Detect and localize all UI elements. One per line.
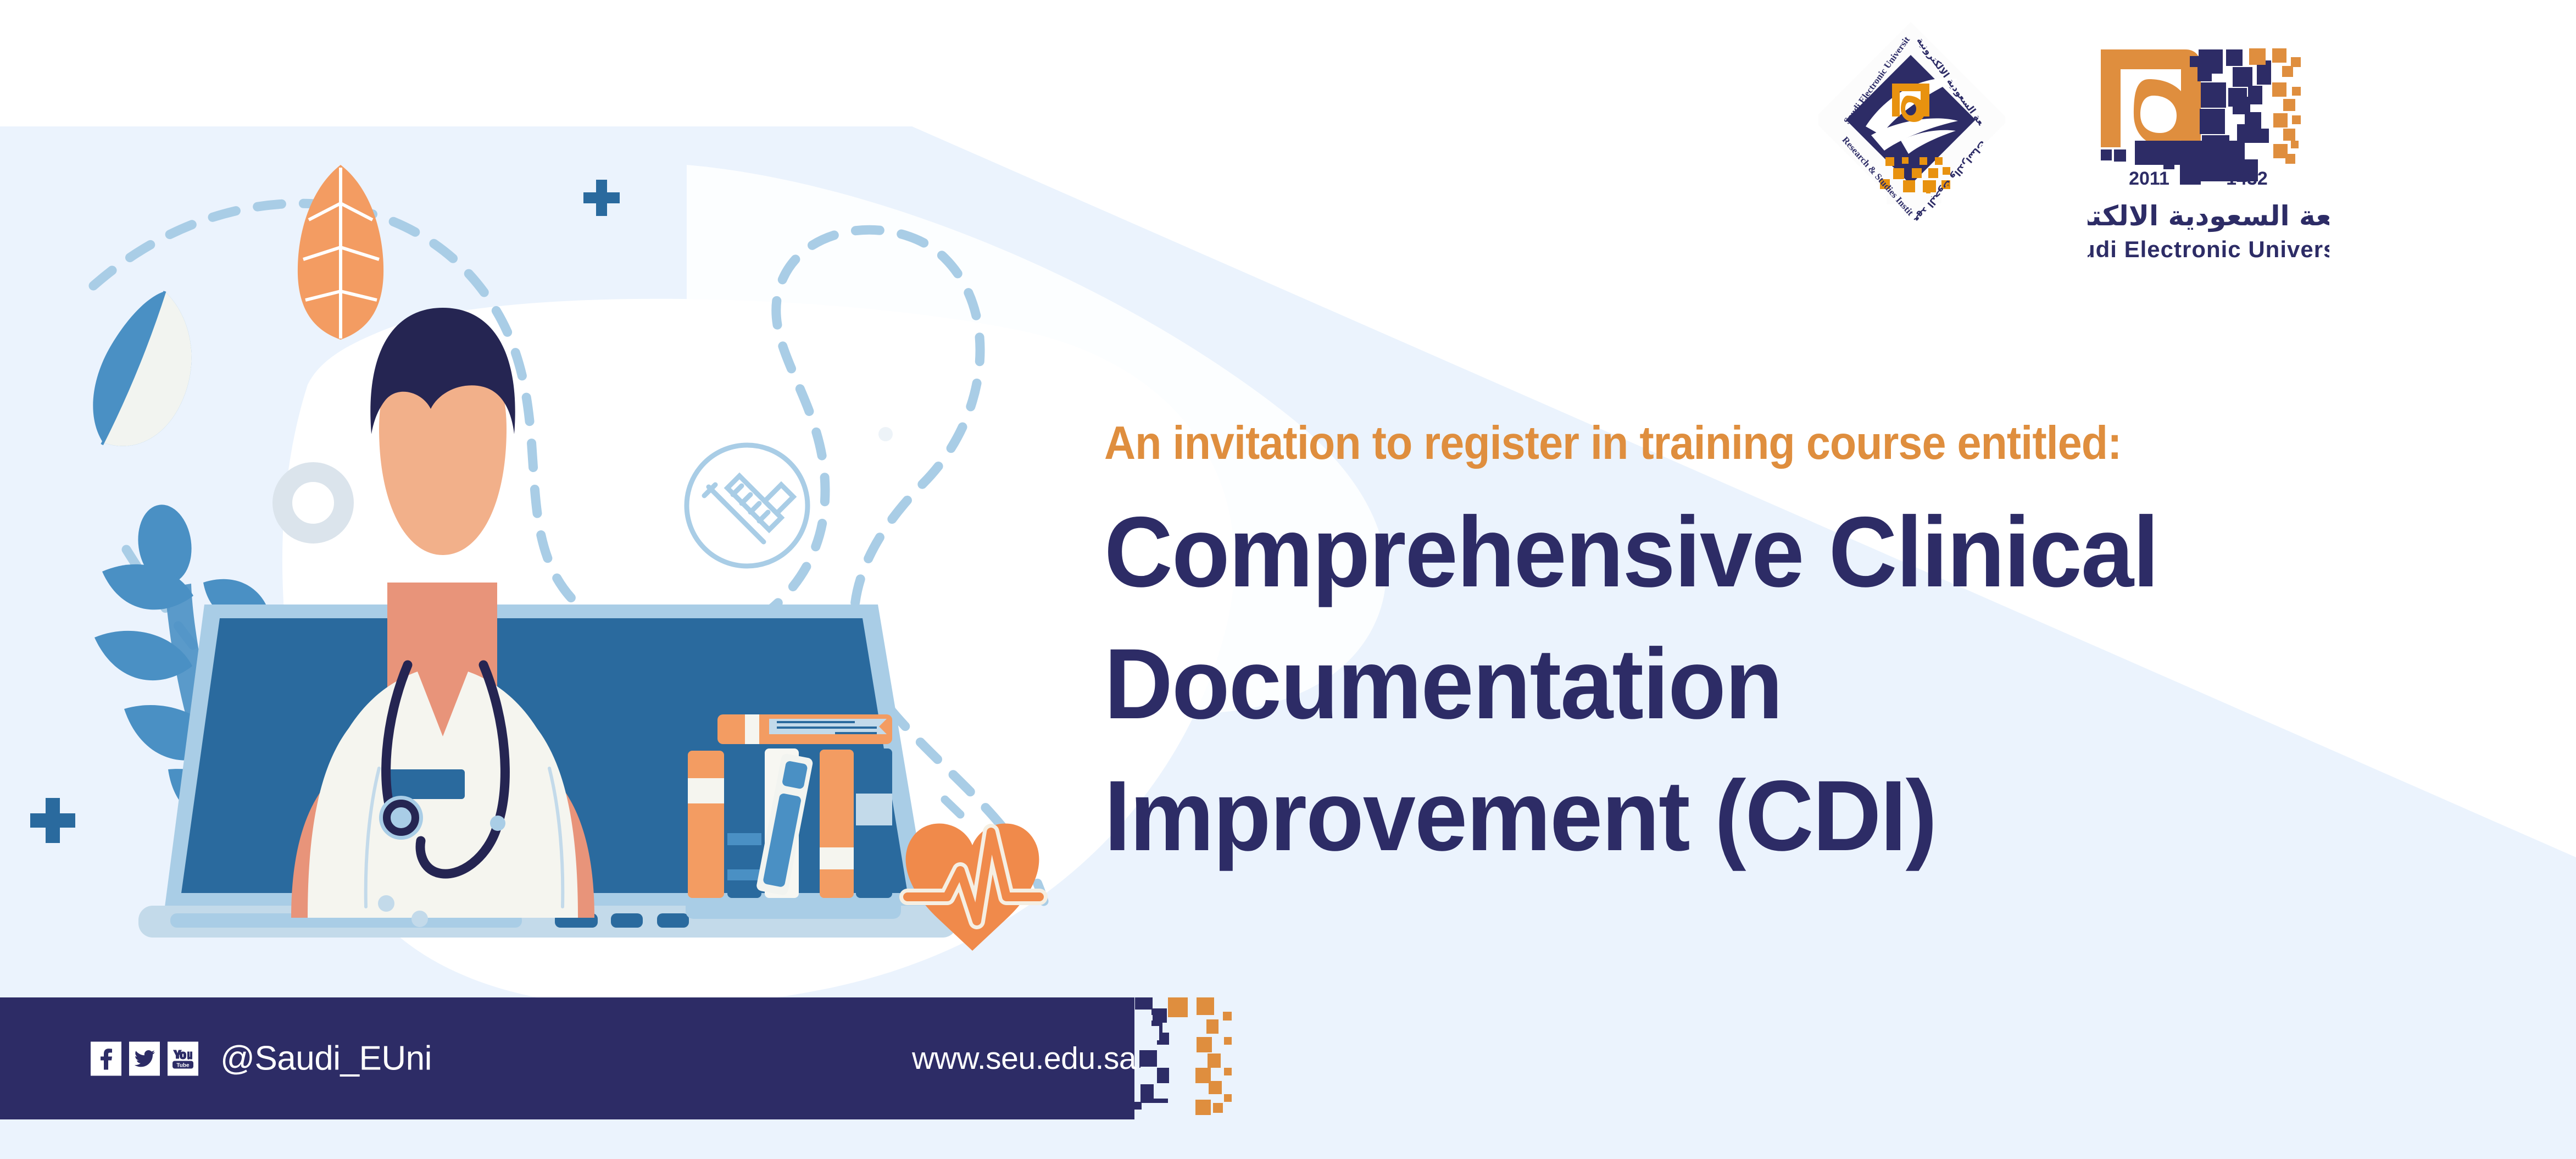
- course-announcement: An invitation to register in training co…: [1104, 418, 2533, 881]
- course-title-line-3: Improvement (CDI): [1104, 750, 2461, 881]
- facebook-icon[interactable]: [91, 1041, 121, 1075]
- footer-bar: Tube @Saudi_EUni www.seu.edu.sa: [0, 997, 1134, 1119]
- youtube-icon[interactable]: Tube: [168, 1041, 198, 1075]
- logo-year-gregorian: 2011: [2129, 168, 2169, 189]
- invitation-eyebrow: An invitation to register in training co…: [1104, 418, 2433, 469]
- logo-english-name: Saudi Electronic University: [2088, 236, 2329, 262]
- footer-pixel-decoration: [1088, 997, 1275, 1124]
- logo-row: Saudi Electronic University الجامعة السع…: [1818, 22, 2329, 300]
- twitter-icon[interactable]: [129, 1041, 160, 1075]
- logo-year-hijri: 1432: [2226, 168, 2268, 189]
- saudi-electronic-university-logo: 2011 1432 الجامعة السعودية الالكترونية S…: [2088, 22, 2329, 283]
- promo-banner: Saudi Electronic University الجامعة السع…: [0, 0, 2576, 1159]
- course-title-line-2: Documentation: [1104, 618, 2461, 750]
- social-links: Tube @Saudi_EUni: [91, 1039, 432, 1078]
- logo-arabic-name: الجامعة السعودية الالكترونية: [2088, 200, 2329, 232]
- footer-content: Tube @Saudi_EUni www.seu.edu.sa: [0, 997, 1134, 1119]
- research-studies-institute-logo: Saudi Electronic University الجامعة السع…: [1818, 22, 2005, 300]
- course-title-line-1: Comprehensive Clinical: [1104, 486, 2461, 618]
- svg-text:Tube: Tube: [176, 1062, 190, 1068]
- social-handle: @Saudi_EUni: [220, 1039, 432, 1078]
